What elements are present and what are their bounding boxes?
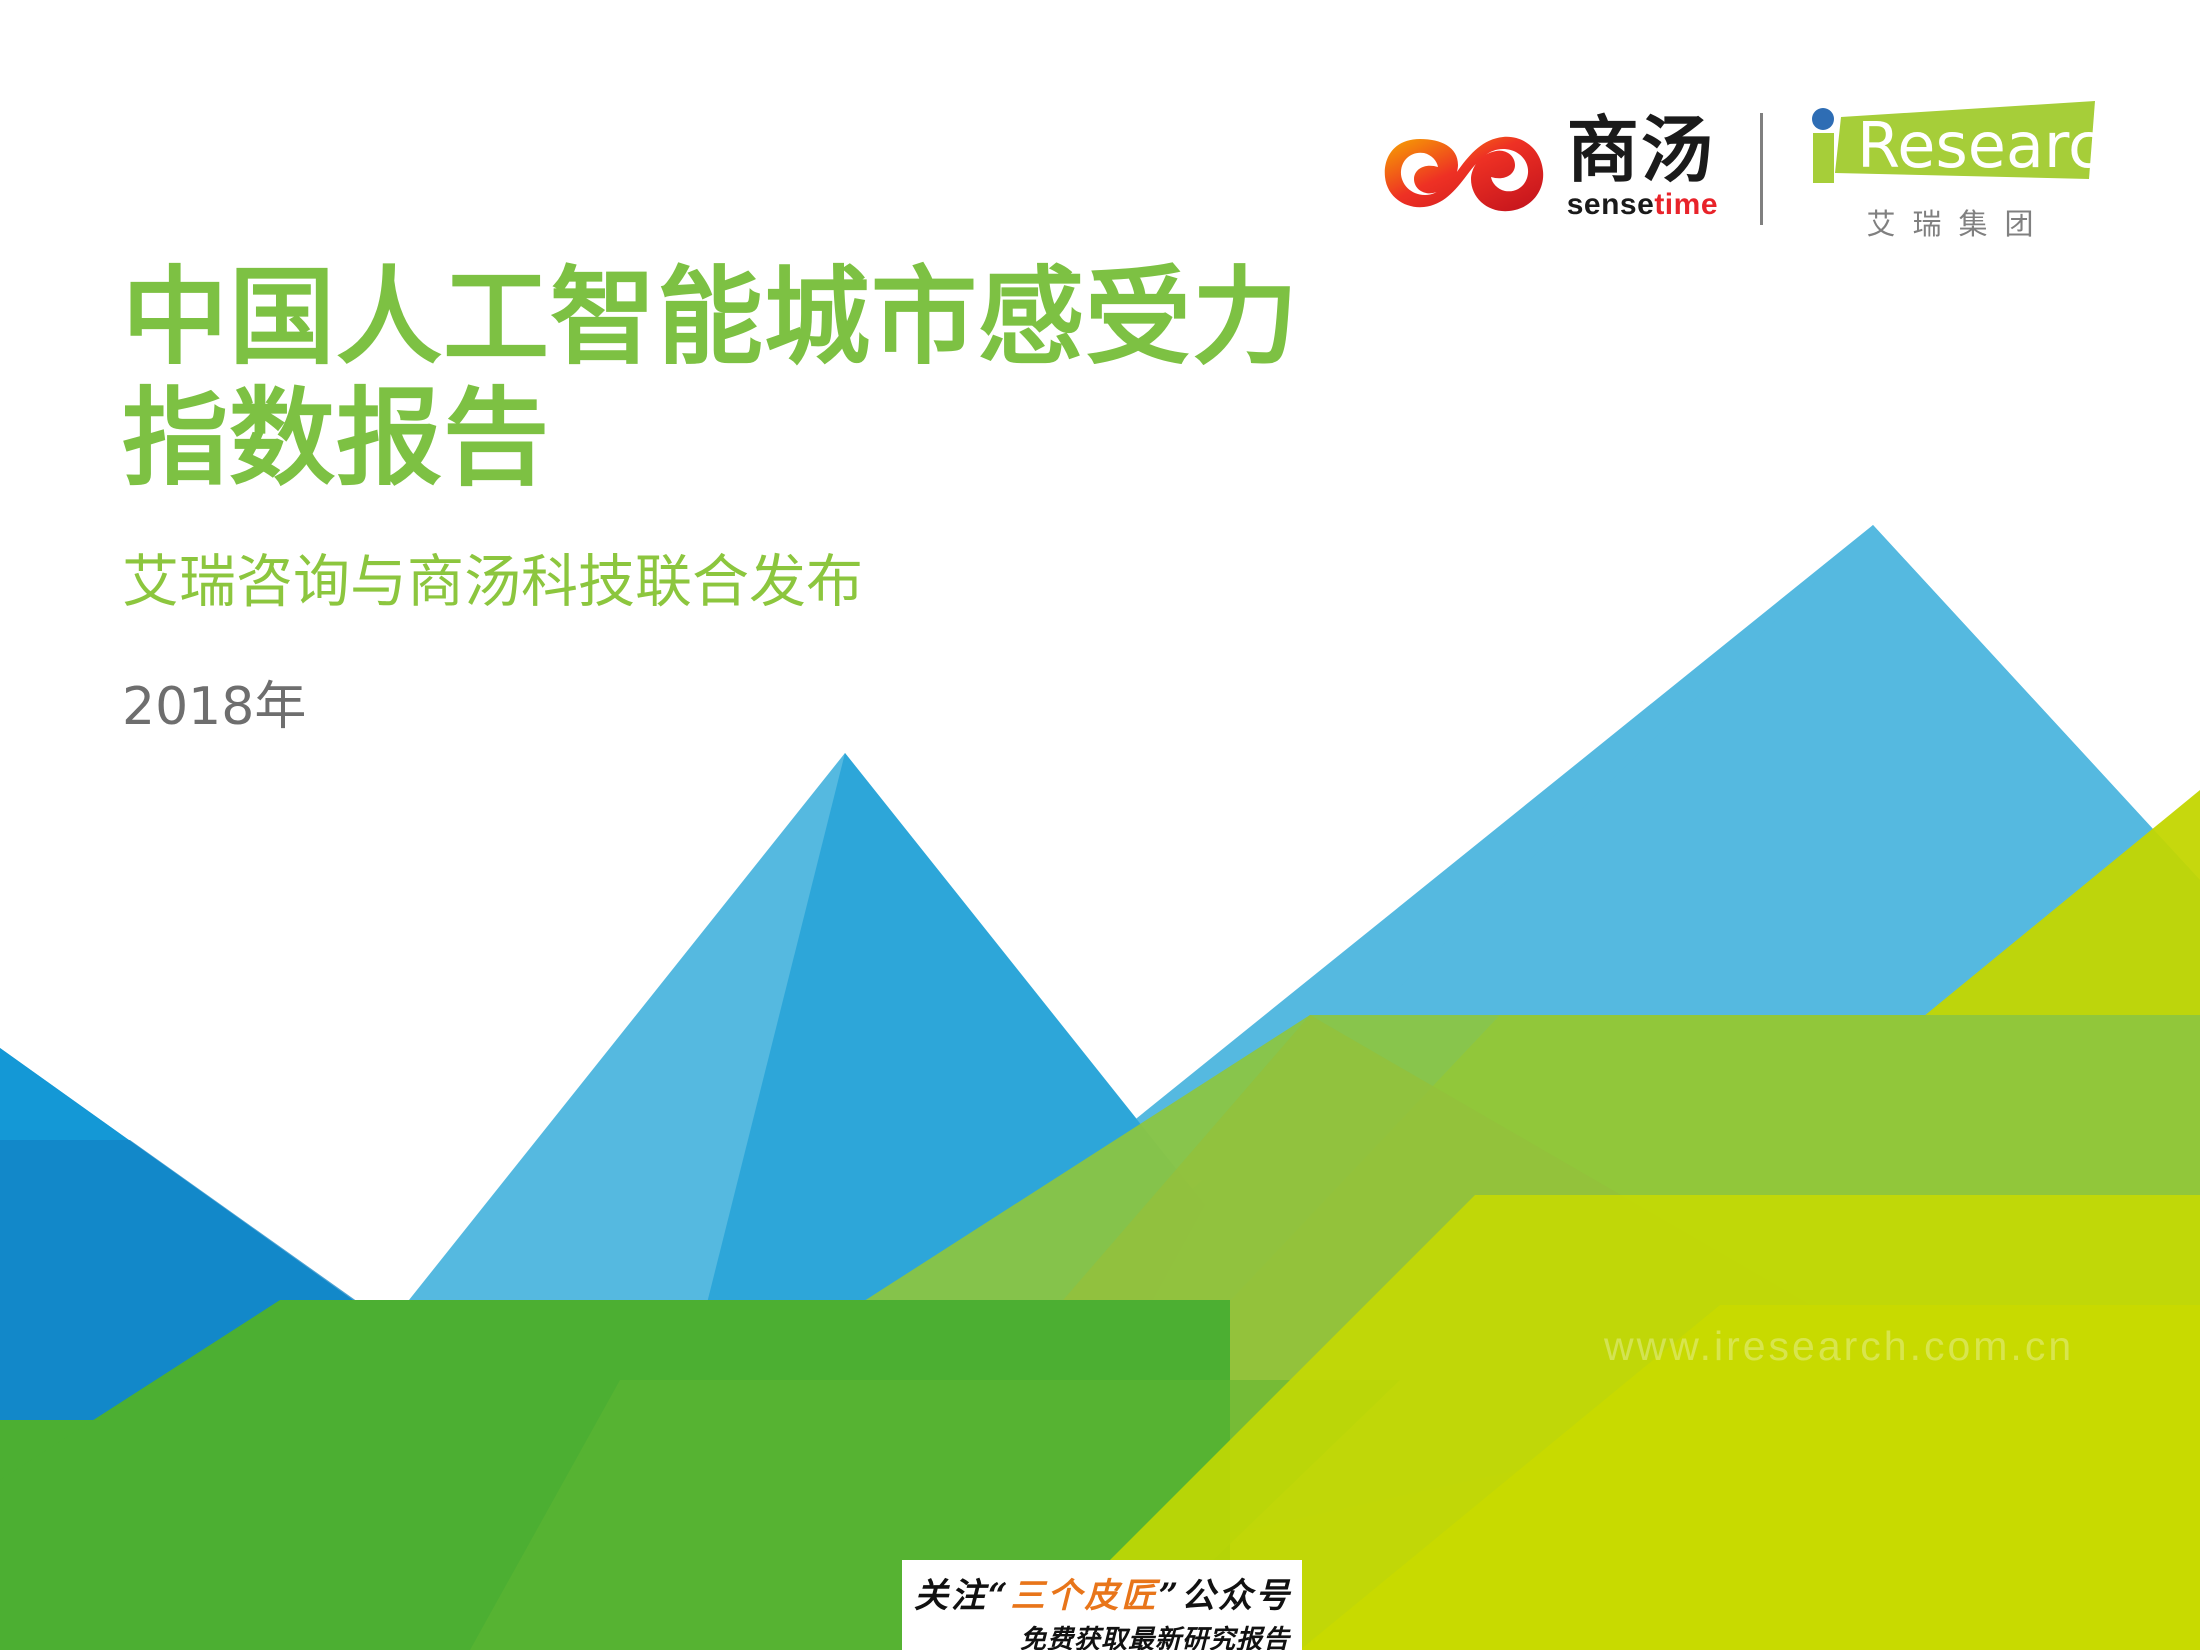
promo-prefix: 关注“ [914,1576,1011,1616]
logo-divider [1760,113,1763,225]
background-geometry [0,0,2200,1650]
sensetime-logo: 商汤 sensetime [1379,116,1718,223]
promo-watermark-box: 关注“三个皮匠”公众号 免费获取最新研究报告 [902,1560,1302,1650]
page-title-line-2: 指数报告 [122,379,1299,500]
logo-bar: 商汤 sensetime Research 艾瑞集团 [1379,95,2095,243]
slide-canvas: 商汤 sensetime Research 艾瑞集团 中国人工智能城市感受力 指… [0,0,2200,1650]
title-text-block: 中国人工智能城市感受力 指数报告 艾瑞咨询与商汤科技联合发布 2018年 [122,258,1299,739]
sensetime-latin-name: sensetime [1567,188,1718,223]
page-subtitle: 艾瑞咨询与商汤科技联合发布 [122,548,1299,616]
sensetime-chinese-name: 商汤 [1567,116,1715,184]
svg-text:Research: Research [1857,109,2095,182]
promo-line-1: 关注“三个皮匠”公众号 [914,1568,1290,1617]
promo-suffix: ”公众号 [1159,1576,1293,1616]
iresearch-logo: Research 艾瑞集团 [1805,95,2095,243]
promo-line-2: 免费获取最新研究报告 [914,1619,1290,1650]
sensetime-latin-time: time [1654,188,1718,221]
iresearch-chinese-name: 艾瑞集团 [1849,201,2050,243]
promo-highlight: 三个皮匠 [1011,1576,1159,1616]
sensetime-latin-sense: sense [1567,188,1655,221]
publication-year: 2018年 [122,664,1299,739]
sensetime-wordmark: 商汤 sensetime [1567,116,1718,223]
site-watermark: www.iresearch.com.cn [1604,1323,2074,1370]
page-title-line-1: 中国人工智能城市感受力 [122,258,1299,379]
sensetime-infinity-mark-icon [1379,123,1549,215]
iresearch-badge-icon: Research [1805,95,2095,191]
